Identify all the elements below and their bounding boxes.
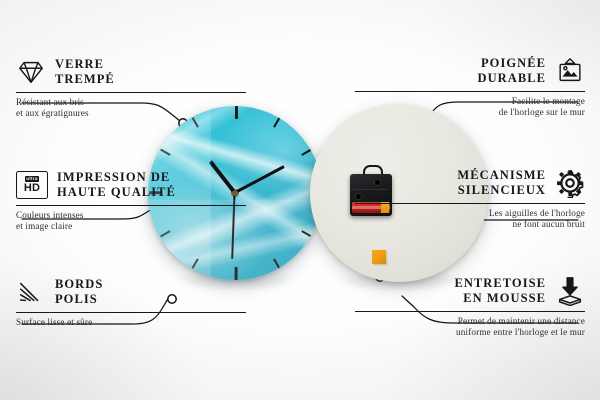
feature-impression-haute-qualite: ultra HD IMPRESSION DE HAUTE QUALITÉ Cou… [16, 170, 246, 233]
feature-title: IMPRESSION DE [57, 170, 176, 185]
feature-title: MÉCANISME [457, 168, 546, 183]
divider [16, 92, 246, 93]
clock-tick [160, 149, 170, 156]
feature-desc-1: Couleurs intenses [16, 210, 246, 222]
feature-desc-2: et image claire [16, 221, 246, 233]
feature-title-2: EN MOUSSE [454, 291, 546, 306]
feature-poignee-durable: POIGNÉE DURABLE Facilite le montage de l… [355, 56, 585, 119]
feature-title-2: DURABLE [478, 71, 546, 86]
feature-title-2: POLIS [55, 292, 103, 307]
clock-tick [301, 230, 311, 237]
feature-desc-1: Facilite le montage [355, 96, 585, 108]
feature-title: BORDS [55, 277, 103, 292]
feature-desc-1: Résistant aux bris [16, 97, 246, 109]
divider [355, 91, 585, 92]
feature-desc-1: Surface lisse et sûre [16, 317, 246, 329]
divider [355, 203, 585, 204]
hd-badge-hd: HD [24, 183, 40, 194]
hanging-picture-frame-icon [555, 56, 585, 86]
ultra-hd-badge-icon: ultra HD [16, 171, 48, 199]
feature-title: POIGNÉE [478, 56, 546, 71]
divider [355, 311, 585, 312]
clock-tick [273, 258, 280, 268]
divider [16, 205, 246, 206]
feature-title-2: SILENCIEUX [457, 183, 546, 198]
feature-desc-1: Les aiguilles de l'horloge [355, 208, 585, 220]
feature-title: VERRE [55, 57, 115, 72]
polished-edges-icon [16, 277, 46, 307]
clock-tick [301, 149, 311, 156]
feature-title-2: HAUTE QUALITÉ [57, 185, 176, 200]
clock-tick [273, 117, 280, 127]
feature-desc-2: ne font aucun bruit [355, 219, 585, 231]
divider [16, 312, 246, 313]
feature-mecanisme-silencieux: MÉCANISME SILENCIEUX [355, 168, 585, 231]
clock-tick [192, 258, 199, 268]
feature-desc-2: uniforme entre l'horloge et le mur [355, 327, 585, 339]
gear-icon [555, 168, 585, 198]
feature-desc-2: de l'horloge sur le mur [355, 107, 585, 119]
feature-entretoise-en-mousse: ENTRETOISE EN MOUSSE Permet de maintenir… [355, 276, 585, 339]
feature-desc-1: Permet de maintenir une distance [355, 316, 585, 328]
feature-bords-polis: BORDS POLIS Surface lisse et sûre [16, 277, 246, 328]
feature-verre-trempe: VERRE TREMPÉ Résistant aux bris et aux é… [16, 57, 246, 120]
diamond-icon [16, 57, 46, 87]
feature-title: ENTRETOISE [454, 276, 546, 291]
feature-desc-2: et aux égratignures [16, 108, 246, 120]
feature-title-2: TREMPÉ [55, 72, 115, 87]
infographic-canvas: VERRE TREMPÉ Résistant aux bris et aux é… [0, 0, 600, 400]
foam-spacer-arrow-icon [555, 276, 585, 306]
foam-spacer [372, 250, 386, 264]
